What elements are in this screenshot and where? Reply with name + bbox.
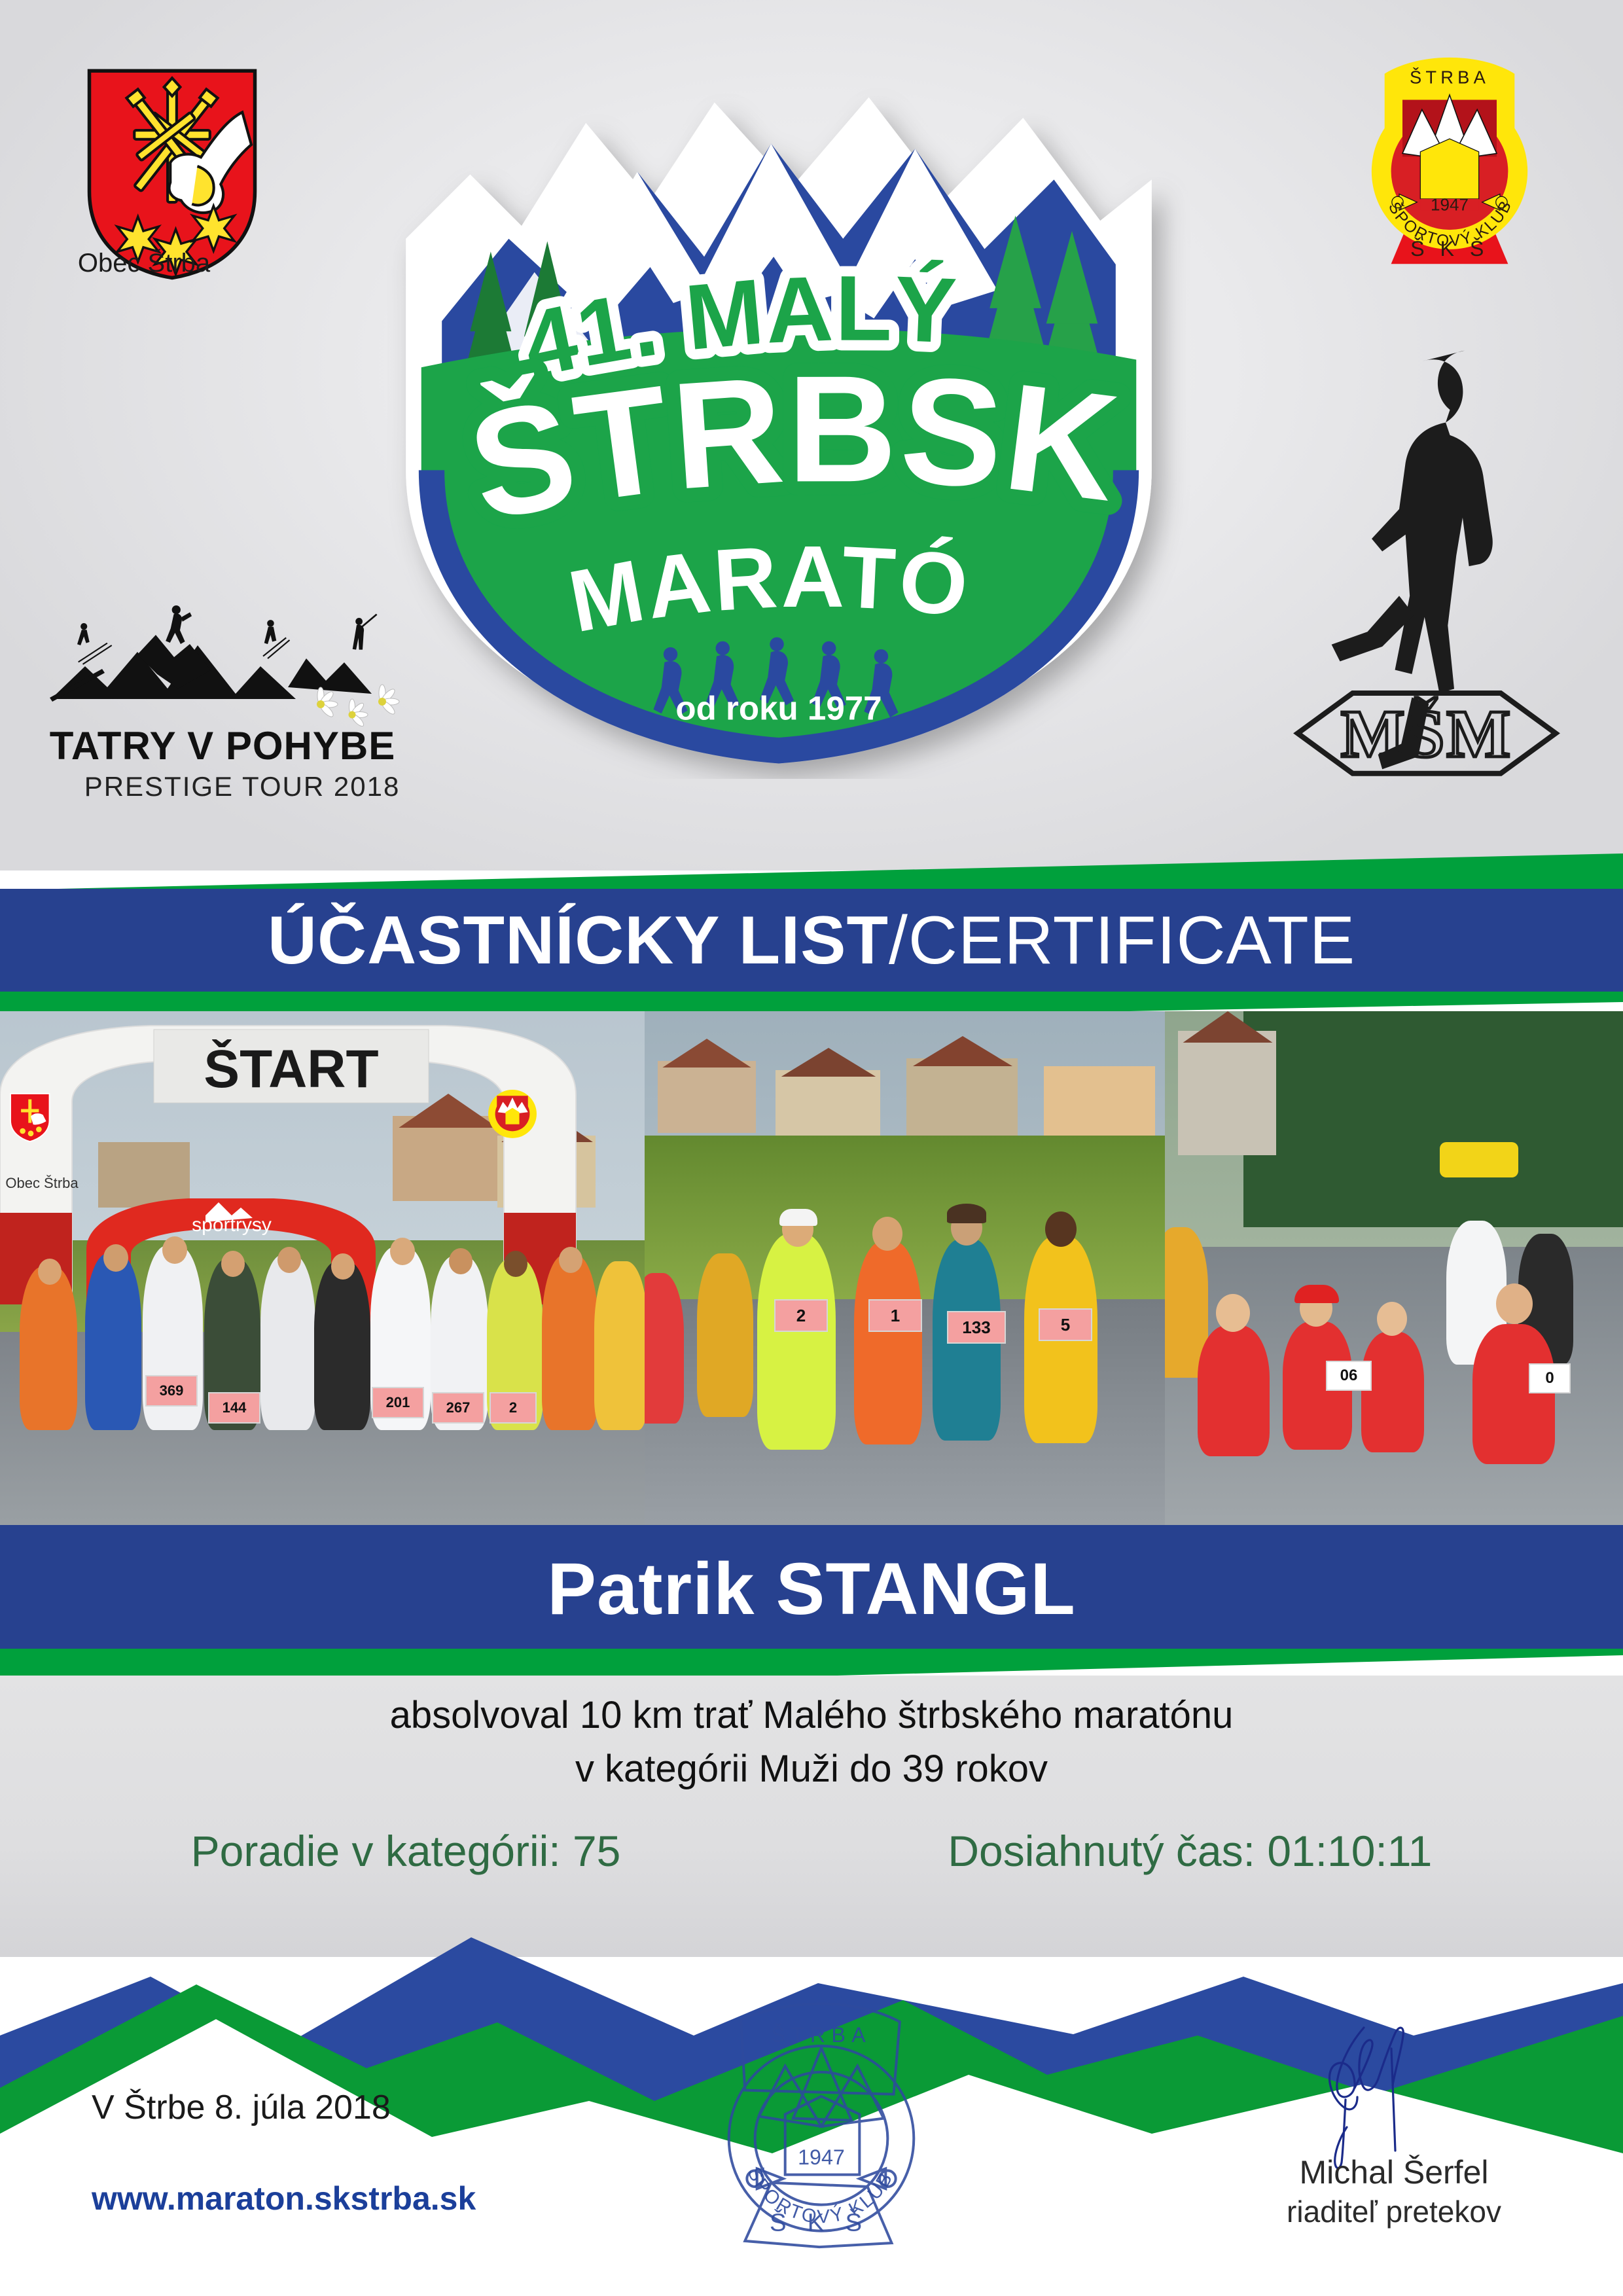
- photo-kids-race: 06 0: [1165, 1011, 1623, 1528]
- arch-coa-label: Obec Štrba: [5, 1175, 79, 1191]
- certificate-title-en: CERTIFICATE: [908, 906, 1355, 975]
- sks-strba-club-logo-icon: ŠTRBA 1947 ŠPORTOVÝ KLUB Š K Š: [1351, 51, 1548, 287]
- finish-time-label: Dosiahnutý čas:: [948, 1827, 1255, 1875]
- signatory-role: riaditeľ pretekov: [1224, 2194, 1564, 2229]
- club-top-text: ŠTRBA: [1410, 67, 1489, 88]
- finish-time: Dosiahnutý čas: 01:10:11: [948, 1826, 1432, 1876]
- website-url[interactable]: www.maraton.skstrba.sk: [92, 2179, 476, 2217]
- bib-number: 267: [432, 1392, 484, 1424]
- club-bottom-text: Š K Š: [1410, 237, 1489, 260]
- description-line-2: v kategórii Muži do 39 rokov: [0, 1742, 1623, 1796]
- certificate-title-sk: ÚČASTNÍCKY LIST: [268, 906, 889, 975]
- category-rank-label: Poradie v kategórii:: [191, 1827, 561, 1875]
- certificate-title-band: ÚČASTNÍCKY LIST / CERTIFICATE: [0, 889, 1623, 992]
- photo-elite-runners: 2 1 133 5: [645, 1011, 1168, 1528]
- stamp-year: 1947: [798, 2145, 845, 2169]
- description-line-1: absolvoval 10 km trať Malého štrbského m…: [0, 1689, 1623, 1742]
- msm-runner-logo-icon: MŠM: [1289, 340, 1564, 798]
- stamp-top-text: ŠTRBA: [771, 2023, 872, 2047]
- bib-number: 1: [868, 1299, 922, 1332]
- results-row: Poradie v kategórii: 75 Dosiahnutý čas: …: [0, 1826, 1623, 1876]
- bib-number: 5: [1039, 1308, 1092, 1341]
- participant-name-band: Patrik STANGL: [0, 1525, 1623, 1653]
- place-and-date: V Štrbe 8. júla 2018: [92, 2088, 391, 2127]
- maly-strbsky-maraton-badge-icon: 41. MALÝ ŠTRBSKÝ MARATÓN: [327, 46, 1230, 779]
- achievement-description: absolvoval 10 km trať Malého štrbského m…: [0, 1689, 1623, 1797]
- category-rank: Poradie v kategórii: 75: [191, 1826, 621, 1876]
- handwritten-signature-icon: [1224, 2022, 1564, 2173]
- bib-number: 0: [1529, 1363, 1571, 1393]
- certificate-page: Obec Štrba: [0, 0, 1623, 2296]
- bib-number: 06: [1326, 1361, 1372, 1391]
- certificate-title-separator: /: [889, 906, 908, 975]
- stamp-bottom-text: Š K Š: [770, 2208, 869, 2237]
- sks-strba-ink-stamp-icon: ŠTRBA 1947 ŠPORTOVÝ KLUB Š K Š: [697, 1990, 946, 2271]
- signature-block: Michal Šerfel riaditeľ pretekov: [1224, 2022, 1564, 2284]
- signatory-name: Michal Šerfel: [1224, 2153, 1564, 2191]
- bib-number: 2: [490, 1392, 537, 1424]
- msm-text: MŠM: [1341, 697, 1512, 772]
- club-year: 1947: [1431, 194, 1469, 214]
- photo-start-line: ŠTART Obec Štrba: [0, 1011, 648, 1528]
- bib-number: 201: [372, 1387, 424, 1418]
- bib-number: 144: [208, 1392, 260, 1424]
- event-photo-collage: ŠTART Obec Štrba: [0, 1011, 1623, 1528]
- header-section: Obec Štrba: [0, 0, 1623, 870]
- start-arch-text: ŠTART: [204, 1039, 378, 1099]
- obec-strba-label: Obec Štrba: [39, 249, 249, 278]
- finish-time-value: 01:10:11: [1267, 1827, 1432, 1875]
- participant-name: Patrik STANGL: [547, 1547, 1076, 1631]
- bib-number: 2: [774, 1299, 828, 1332]
- bib-number: 369: [145, 1375, 198, 1407]
- bib-number: 133: [947, 1311, 1006, 1344]
- arch-sponsor-text: sportrysy: [192, 1214, 272, 1236]
- category-rank-value: 75: [573, 1827, 620, 1875]
- badge-since: od roku 1977: [675, 690, 882, 727]
